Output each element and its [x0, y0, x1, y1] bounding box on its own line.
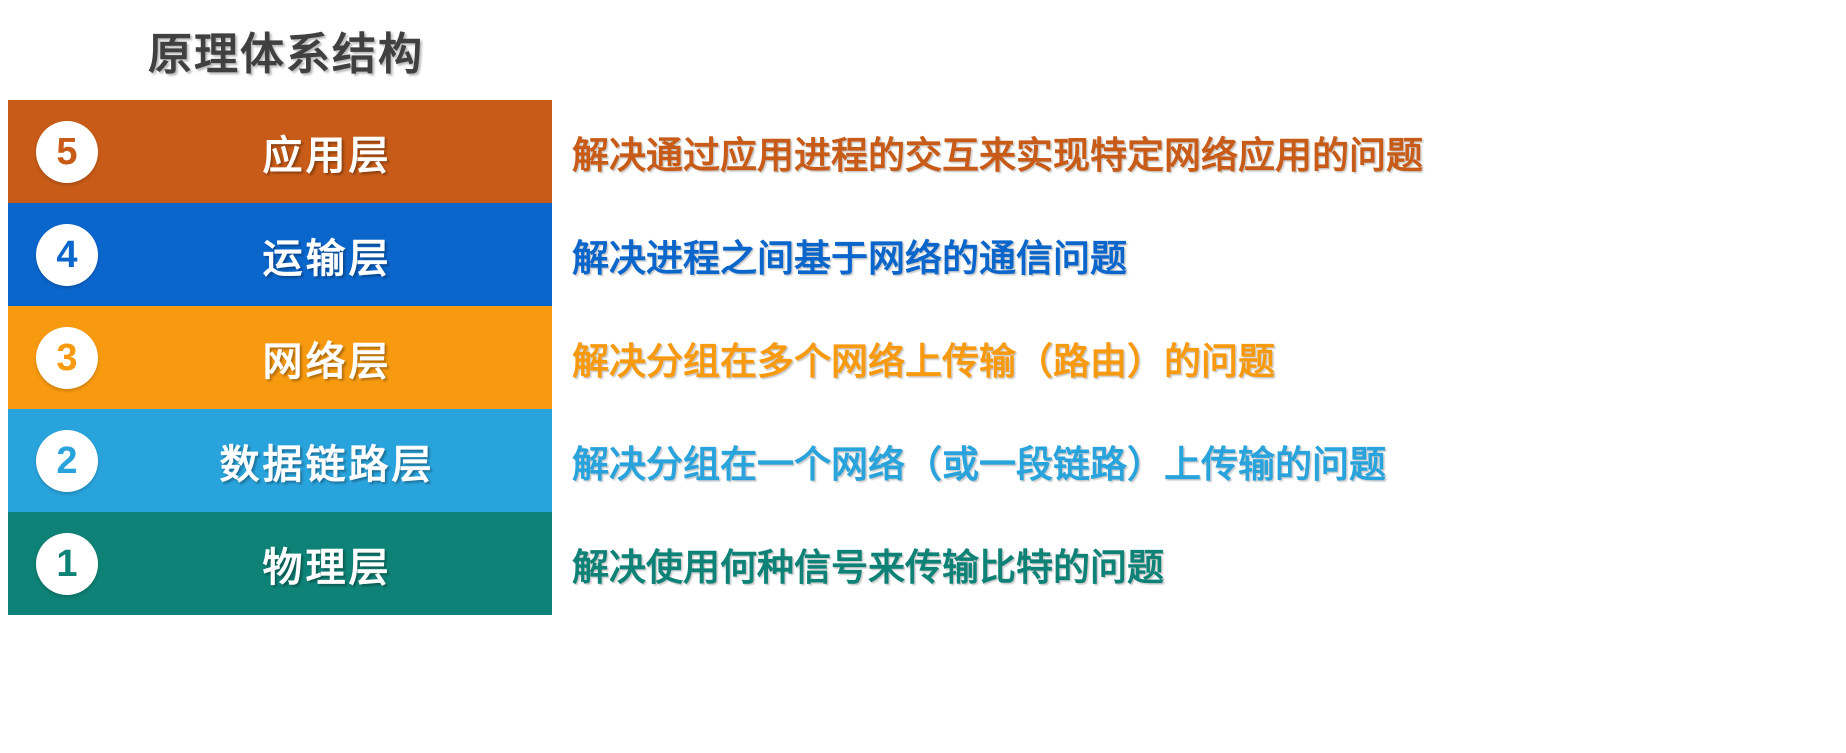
layer-bar-5[interactable]: 5 应用层: [8, 100, 552, 203]
page-title: 原理体系结构: [148, 18, 424, 82]
layer-row: 1 物理层 解决使用何种信号来传输比特的问题: [0, 512, 1846, 615]
layer-row: 4 运输层 解决进程之间基于网络的通信问题: [0, 203, 1846, 306]
layer-name-5: 应用层: [8, 123, 534, 181]
layer-name-1: 物理层: [8, 535, 534, 593]
layer-description-4: 解决进程之间基于网络的通信问题: [572, 228, 1127, 282]
layer-name-4: 运输层: [8, 226, 534, 284]
layer-description-2: 解决分组在一个网络（或一段链路）上传输的问题: [572, 434, 1386, 488]
layer-bar-2[interactable]: 2 数据链路层: [8, 409, 552, 512]
layer-bar-3[interactable]: 3 网络层: [8, 306, 552, 409]
layer-bar-4[interactable]: 4 运输层: [8, 203, 552, 306]
layer-name-3: 网络层: [8, 329, 534, 387]
layer-stack: 5 应用层 解决通过应用进程的交互来实现特定网络应用的问题 4 运输层 解决进程…: [0, 100, 1846, 615]
layer-bar-1[interactable]: 1 物理层: [8, 512, 552, 615]
network-layer-architecture-diagram: 原理体系结构 5 应用层 解决通过应用进程的交互来实现特定网络应用的问题 4 运…: [0, 0, 1846, 753]
layer-description-3: 解决分组在多个网络上传输（路由）的问题: [572, 331, 1275, 385]
layer-name-2: 数据链路层: [8, 432, 534, 490]
layer-row: 3 网络层 解决分组在多个网络上传输（路由）的问题: [0, 306, 1846, 409]
layer-description-1: 解决使用何种信号来传输比特的问题: [572, 537, 1164, 591]
layer-row: 2 数据链路层 解决分组在一个网络（或一段链路）上传输的问题: [0, 409, 1846, 512]
layer-row: 5 应用层 解决通过应用进程的交互来实现特定网络应用的问题: [0, 100, 1846, 203]
layer-description-5: 解决通过应用进程的交互来实现特定网络应用的问题: [572, 125, 1423, 179]
